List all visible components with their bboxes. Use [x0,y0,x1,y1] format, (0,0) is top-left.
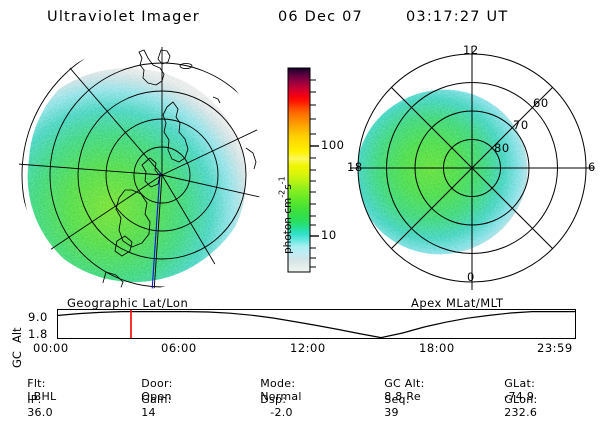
status-glon: GLon: 232.6 [489,380,538,432]
apex-dial-svg[interactable] [348,42,596,294]
status-dsp: Dsp: -2.0 [245,380,293,432]
orbit-plot-svg[interactable] [57,309,576,339]
colorbar-axis-label-exp1: -2 [278,190,287,198]
colorbar-axis-label-text: photon cm [282,198,294,254]
mlt-label-18: 18 [347,160,363,174]
observation-date: 06 Dec 07 [278,9,363,25]
aurora-emission-data-left [10,68,246,292]
colorbar-tick-label-10: 10 [321,228,337,242]
status-dsp-value: -2.0 [270,406,293,419]
mlat-label-80: 80 [494,141,510,155]
status-gain: Gain: 14 [126,380,172,432]
colorbar-axis-label-exp2: -1 [278,176,287,184]
colorbar-major-ticks [310,146,319,236]
orbit-xtick-1800: 18:00 [419,341,455,355]
status-seq-value: 39 [384,406,399,419]
colorbar-axis-label-mid: s [282,184,294,189]
geographic-map-panel[interactable] [10,40,272,295]
orbit-altitude-plot[interactable] [57,309,576,339]
orbit-xtick-1200: 12:00 [290,341,326,355]
orbit-yaxis-title: Alt [6,327,25,343]
mlt-label-12: 12 [463,43,479,57]
mlt-label-6: 6 [588,160,596,174]
orbit-xtick-0600: 06:00 [161,341,197,355]
mlat-label-70: 70 [513,118,529,132]
orbit-yaxis-title-gc: Alt [10,327,24,343]
orbit-ytick-1-8: 1.8 [28,327,48,341]
status-glon-value: 232.6 [504,406,537,419]
status-ip: IP: 36.0 [12,380,53,432]
right-panel-title: Apex MLat/MLT [411,296,504,310]
status-seq: Seq: 39 [369,380,410,432]
left-panel-title: Geographic Lat/Lon [67,296,188,310]
orbit-xtick-0000: 00:00 [33,341,69,355]
apex-dial-panel[interactable]: 12 6 0 18 60 70 80 [348,42,596,294]
mlt-label-0: 0 [467,270,475,284]
mlat-label-60: 60 [533,96,549,110]
uvi-display-window: Ultraviolet Imager 06 Dec 07 03:17:27 UT [0,0,600,400]
colorbar-tick-label-100: 100 [321,138,344,152]
colorbar-minor-ticks [310,80,316,267]
status-gain-value: 14 [141,406,156,419]
colorbar-axis-label: photon cm-2s-1 [276,176,295,254]
geographic-map-svg[interactable] [10,40,272,295]
orbit-ytick-9: 9.0 [28,310,48,324]
orbit-xtick-2359: 23:59 [537,341,573,355]
aurora-emission-data-right [350,84,534,260]
instrument-title: Ultraviolet Imager [47,9,200,25]
status-ip-value: 36.0 [27,406,53,419]
mlt-spokes [358,54,586,282]
observation-time: 03:17:27 UT [406,9,508,25]
